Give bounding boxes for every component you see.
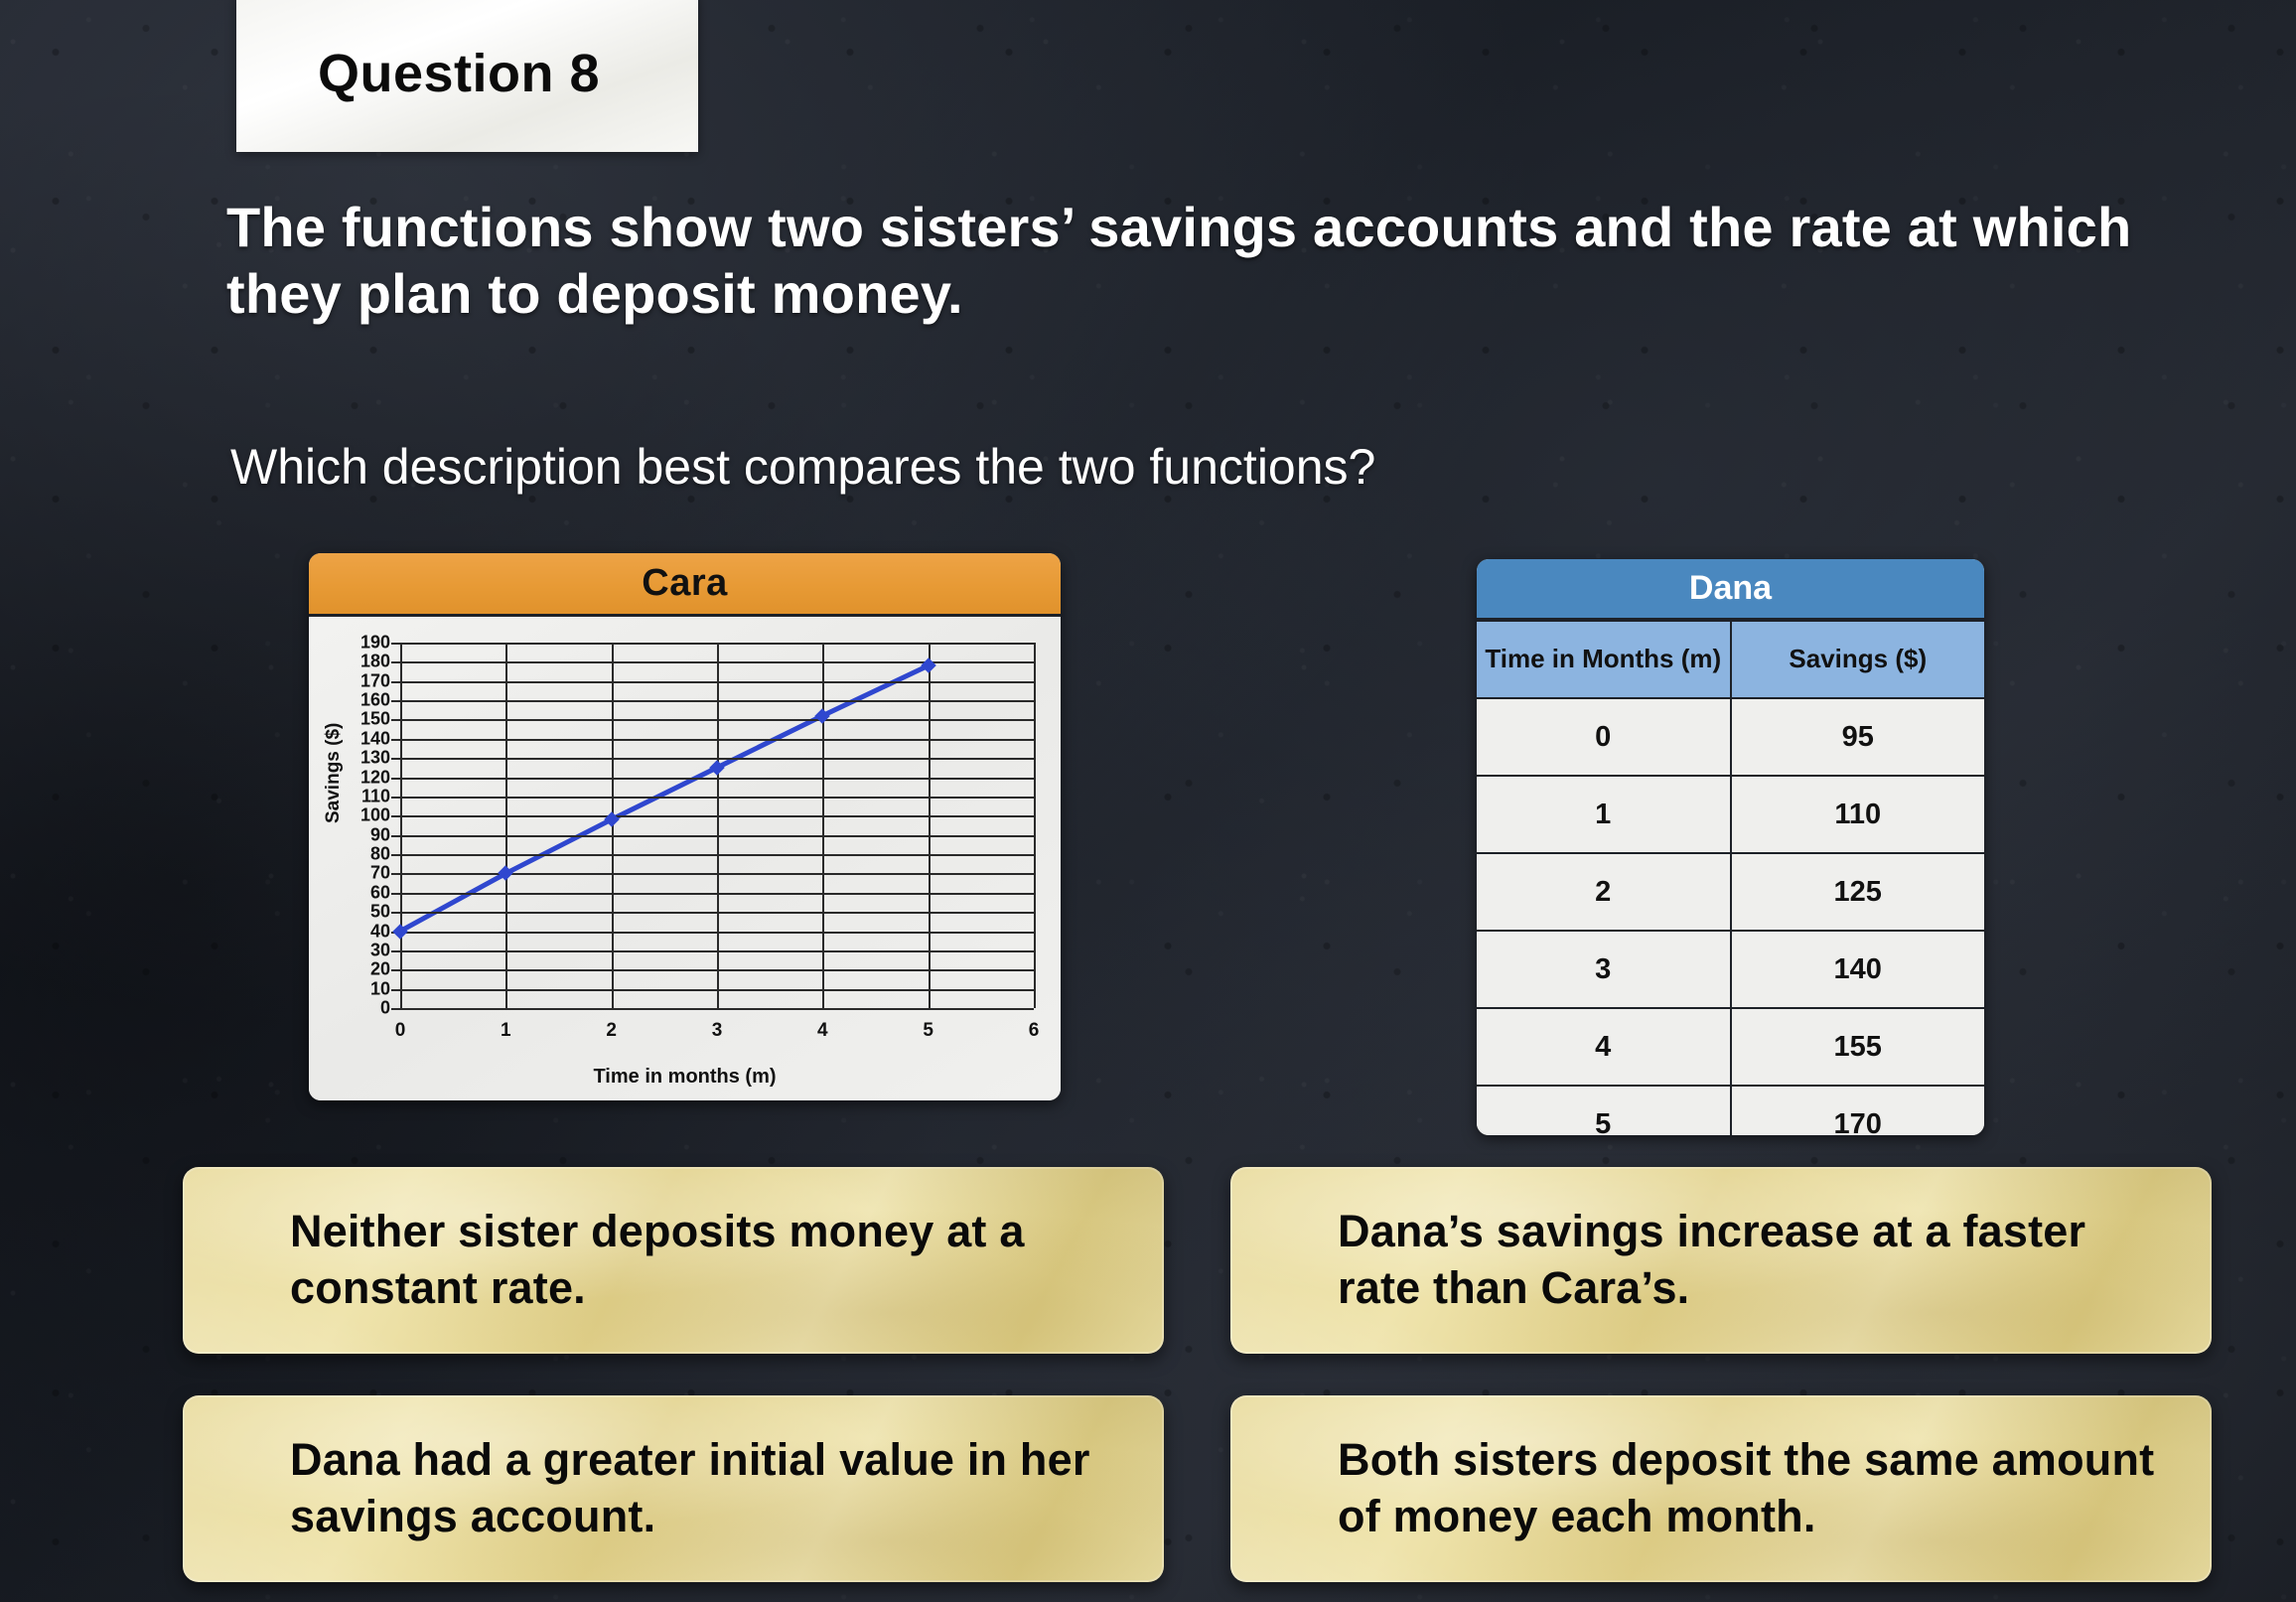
chart-gridline-vertical bbox=[505, 643, 507, 1008]
chart-y-tick-label: 80 bbox=[370, 844, 390, 865]
chart-y-tick-mark bbox=[391, 854, 400, 856]
chart-y-tick-mark bbox=[391, 700, 400, 702]
chart-gridline-vertical bbox=[717, 643, 719, 1008]
chart-plot-area: 0102030405060708090100110120130140150160… bbox=[400, 643, 1034, 1008]
question-banner: Question 8 bbox=[236, 0, 698, 152]
cell-month: 3 bbox=[1477, 931, 1731, 1008]
chart-y-tick-label: 190 bbox=[360, 633, 390, 654]
cara-title-label: Cara bbox=[642, 562, 728, 605]
chart-y-axis-title: Savings ($) bbox=[323, 723, 345, 823]
cell-month: 5 bbox=[1477, 1086, 1731, 1135]
dana-card-header: Dana bbox=[1477, 559, 1984, 620]
dana-table-card: Dana Time in Months (m) Savings ($) 0951… bbox=[1477, 559, 1984, 1135]
chart-y-tick-label: 110 bbox=[361, 786, 390, 806]
chart-y-tick-label: 10 bbox=[370, 978, 390, 999]
chart-x-tick-label: 5 bbox=[923, 1020, 933, 1042]
slide-canvas: Question 8 The functions show two sister… bbox=[0, 0, 2296, 1602]
answer-choice-2-label: Dana’s savings increase at a faster rate… bbox=[1338, 1204, 2172, 1316]
answer-choice-4[interactable]: Both sisters deposit the same amount of … bbox=[1230, 1395, 2212, 1582]
chart-gridline-vertical bbox=[400, 643, 402, 1008]
answer-choice-1-label: Neither sister deposits money at a const… bbox=[290, 1204, 1124, 1316]
chart-y-tick-mark bbox=[391, 758, 400, 760]
chart-y-tick-label: 0 bbox=[380, 998, 390, 1019]
chart-y-tick-mark bbox=[391, 873, 400, 875]
chart-y-tick-label: 170 bbox=[360, 670, 390, 691]
dana-data-table: Time in Months (m) Savings ($) 095111021… bbox=[1477, 620, 1984, 1135]
chart-y-tick-label: 140 bbox=[360, 728, 390, 749]
chart-x-axis-title: Time in months (m) bbox=[309, 1066, 1061, 1089]
answer-choice-3[interactable]: Dana had a greater initial value in her … bbox=[183, 1395, 1164, 1582]
cell-month: 1 bbox=[1477, 776, 1731, 853]
chart-y-tick-label: 20 bbox=[370, 959, 390, 980]
chart-y-tick-mark bbox=[391, 815, 400, 817]
chart-y-tick-mark bbox=[391, 969, 400, 971]
chart-y-tick-mark bbox=[391, 739, 400, 741]
chart-y-tick-mark bbox=[391, 778, 400, 780]
cara-chart-body: Savings ($) Time in months (m) 010203040… bbox=[309, 617, 1061, 1100]
chart-y-tick-mark bbox=[391, 797, 400, 799]
chart-y-tick-label: 90 bbox=[370, 824, 390, 845]
table-row: 5170 bbox=[1477, 1086, 1984, 1135]
chart-y-tick-mark bbox=[391, 1008, 400, 1010]
cell-savings: 110 bbox=[1731, 776, 1985, 853]
chart-y-tick-mark bbox=[391, 950, 400, 952]
answer-choice-1[interactable]: Neither sister deposits money at a const… bbox=[183, 1167, 1164, 1354]
table-row: 4155 bbox=[1477, 1008, 1984, 1086]
cell-savings: 170 bbox=[1731, 1086, 1985, 1135]
chart-y-tick-mark bbox=[391, 643, 400, 645]
chart-y-tick-mark bbox=[391, 835, 400, 837]
chart-gridline-vertical bbox=[822, 643, 824, 1008]
chart-x-tick-label: 2 bbox=[606, 1020, 617, 1042]
cell-savings: 95 bbox=[1731, 698, 1985, 776]
question-number-label: Question 8 bbox=[318, 43, 600, 104]
chart-y-tick-label: 50 bbox=[370, 902, 390, 923]
chart-plot-wrapper: Savings ($) Time in months (m) 010203040… bbox=[309, 617, 1061, 1100]
cara-chart-card: Cara Savings ($) Time in months (m) 0102… bbox=[309, 553, 1061, 1100]
cell-month: 0 bbox=[1477, 698, 1731, 776]
answer-choice-4-label: Both sisters deposit the same amount of … bbox=[1338, 1432, 2172, 1544]
column-header-months: Time in Months (m) bbox=[1477, 621, 1731, 698]
chart-y-tick-label: 180 bbox=[360, 652, 390, 672]
chart-gridline-vertical bbox=[1034, 643, 1036, 1008]
chart-y-tick-label: 100 bbox=[360, 805, 390, 826]
chart-y-tick-label: 40 bbox=[370, 921, 390, 942]
table-row: 3140 bbox=[1477, 931, 1984, 1008]
cell-month: 4 bbox=[1477, 1008, 1731, 1086]
chart-y-tick-label: 150 bbox=[360, 709, 390, 730]
cara-card-header: Cara bbox=[309, 553, 1061, 617]
table-row: 095 bbox=[1477, 698, 1984, 776]
chart-x-tick-label: 4 bbox=[817, 1020, 828, 1042]
cell-savings: 125 bbox=[1731, 853, 1985, 931]
answer-choice-3-label: Dana had a greater initial value in her … bbox=[290, 1432, 1124, 1544]
chart-y-tick-label: 30 bbox=[370, 940, 390, 960]
table-row: 1110 bbox=[1477, 776, 1984, 853]
chart-x-tick-label: 3 bbox=[712, 1020, 723, 1042]
cell-savings: 140 bbox=[1731, 931, 1985, 1008]
chart-x-tick-label: 1 bbox=[501, 1020, 511, 1042]
chart-y-tick-mark bbox=[391, 989, 400, 991]
chart-y-tick-mark bbox=[391, 681, 400, 683]
table-header-row: Time in Months (m) Savings ($) bbox=[1477, 621, 1984, 698]
chart-gridline-vertical bbox=[929, 643, 931, 1008]
chart-y-tick-label: 160 bbox=[360, 690, 390, 711]
question-subprompt: Which description best compares the two … bbox=[230, 437, 2117, 497]
table-row: 2125 bbox=[1477, 853, 1984, 931]
chart-y-tick-mark bbox=[391, 661, 400, 663]
answer-choice-2[interactable]: Dana’s savings increase at a faster rate… bbox=[1230, 1167, 2212, 1354]
chart-y-tick-mark bbox=[391, 893, 400, 895]
column-header-savings: Savings ($) bbox=[1731, 621, 1985, 698]
cell-savings: 155 bbox=[1731, 1008, 1985, 1086]
chart-y-tick-label: 60 bbox=[370, 882, 390, 903]
chart-y-tick-mark bbox=[391, 719, 400, 721]
chart-y-tick-mark bbox=[391, 912, 400, 914]
chart-y-tick-label: 120 bbox=[360, 767, 390, 788]
chart-gridline-horizontal bbox=[400, 1008, 1034, 1010]
chart-y-tick-label: 130 bbox=[360, 748, 390, 769]
question-stem: The functions show two sisters’ savings … bbox=[226, 194, 2193, 327]
cell-month: 2 bbox=[1477, 853, 1731, 931]
chart-x-tick-label: 6 bbox=[1029, 1020, 1040, 1042]
chart-x-tick-label: 0 bbox=[395, 1020, 406, 1042]
chart-y-tick-label: 70 bbox=[370, 863, 390, 884]
